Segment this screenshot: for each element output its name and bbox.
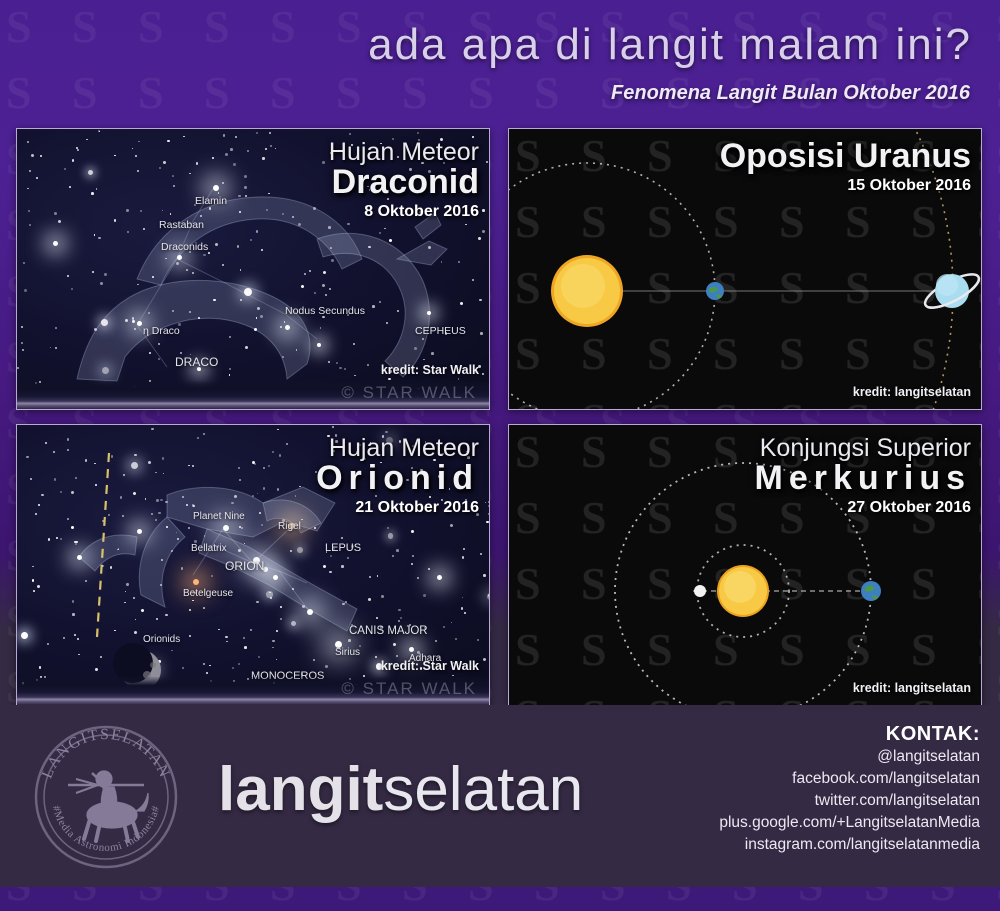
langitselatan-logo[interactable]: LANGITSELATAN #Media Astronomi Indonesia… bbox=[32, 723, 180, 871]
sun-body bbox=[717, 565, 769, 617]
panel-heading-merkurius: Konjungsi Superior Merkurius 27 Oktober … bbox=[755, 435, 972, 517]
star-label: Planet Nine bbox=[193, 511, 245, 522]
page-title: ada apa di langit malam ini? bbox=[368, 20, 972, 70]
star-label: Sirius bbox=[335, 647, 360, 658]
panel-superline: Hujan Meteor bbox=[329, 139, 479, 165]
panel-merkurius[interactable]: SSSSSSSSSSSSSSSSSSSSSSSSSSSSSSSSSSSSSSSS… bbox=[508, 424, 982, 706]
panel-superline: Hujan Meteor bbox=[316, 435, 479, 461]
earth-body bbox=[861, 581, 881, 601]
star-label: CANIS MAJOR bbox=[349, 625, 428, 637]
star-label: Bellatrix bbox=[191, 543, 227, 554]
panel-headline: Merkurius bbox=[755, 461, 972, 497]
star-label: Elamin bbox=[195, 195, 227, 207]
panel-date: 8 Oktober 2016 bbox=[329, 203, 479, 221]
star-label: Rigel bbox=[278, 521, 301, 532]
earth-body bbox=[706, 282, 724, 300]
contact-handle[interactable]: @langitselatan bbox=[719, 746, 980, 768]
panel-headline: Oposisi Uranus bbox=[720, 139, 971, 175]
mercury-body bbox=[694, 585, 706, 597]
contact-twitter[interactable]: twitter.com/langitselatan bbox=[719, 790, 980, 812]
contact-instagram[interactable]: instagram.com/langitselatanmedia bbox=[719, 834, 980, 856]
star-label: Betelgeuse bbox=[183, 588, 233, 599]
panel-headline: Orionid bbox=[316, 461, 479, 497]
sun-body bbox=[551, 255, 623, 327]
brand-bold: langit bbox=[218, 755, 383, 824]
panel-uranus[interactable]: SSSSSSSSSSSSSSSSSSSSSSSSSSSSSSSSSSSSSSSS… bbox=[508, 128, 982, 410]
star-label: Rastaban bbox=[159, 219, 204, 231]
star-label: LEPUS bbox=[325, 542, 361, 554]
panel-date: 27 Oktober 2016 bbox=[755, 499, 972, 517]
brand-wordmark: langitselatan bbox=[218, 759, 583, 821]
panel-credit: kredit: langitselatan bbox=[853, 681, 971, 695]
sagittarius-centaur-icon bbox=[68, 771, 148, 841]
brand-light: selatan bbox=[383, 755, 583, 824]
panel-heading-draconid: Hujan Meteor Draconid 8 Oktober 2016 bbox=[329, 139, 479, 221]
panel-date: 15 Oktober 2016 bbox=[720, 177, 971, 195]
contact-title: KONTAK: bbox=[719, 723, 980, 746]
poster-header: ada apa di langit malam ini? Fenomena La… bbox=[0, 0, 1000, 122]
star-label: η Draco bbox=[143, 325, 180, 337]
contact-googleplus[interactable]: plus.google.com/+LangitselatanMedia bbox=[719, 812, 980, 834]
star-label: Draconids bbox=[161, 241, 208, 253]
star-label: CEPHEUS bbox=[415, 325, 466, 337]
panel-date: 21 Oktober 2016 bbox=[316, 499, 479, 517]
panel-heading-orionid: Hujan Meteor Orionid 21 Oktober 2016 bbox=[316, 435, 479, 517]
starwalk-watermark: © STAR WALK bbox=[341, 383, 477, 403]
panel-credit: kredit: Star Walk bbox=[381, 363, 479, 377]
panel-draconid[interactable]: ElaminRastabanDraconidsNodus Secundusη D… bbox=[16, 128, 490, 410]
contact-block: KONTAK: @langitselatan facebook.com/lang… bbox=[719, 723, 980, 856]
panel-credit: kredit: Star Walk bbox=[381, 659, 479, 673]
contact-facebook[interactable]: facebook.com/langitselatan bbox=[719, 768, 980, 790]
panel-orionid[interactable]: Planet NineRigelBellatrixLEPUSORIONBetel… bbox=[16, 424, 490, 706]
star-label: Nodus Secundus bbox=[285, 305, 365, 317]
starwalk-watermark: © STAR WALK bbox=[341, 679, 477, 699]
star-label: DRACO bbox=[175, 355, 218, 369]
panel-credit: kredit: langitselatan bbox=[853, 385, 971, 399]
star-label: Orionids bbox=[143, 634, 180, 645]
page-subtitle: Fenomena Langit Bulan Oktober 2016 bbox=[611, 82, 970, 105]
star-label: ORION bbox=[225, 559, 264, 573]
poster-root: SSSSSSSSSSSSSSSSSSSSSSSSSSSSSSSSSSSSSSSS… bbox=[0, 0, 1000, 887]
panel-headline: Draconid bbox=[329, 165, 479, 201]
panel-superline: Konjungsi Superior bbox=[755, 435, 972, 461]
panel-heading-uranus: Oposisi Uranus 15 Oktober 2016 bbox=[720, 139, 971, 195]
poster-footer: LANGITSELATAN #Media Astronomi Indonesia… bbox=[0, 705, 1000, 887]
